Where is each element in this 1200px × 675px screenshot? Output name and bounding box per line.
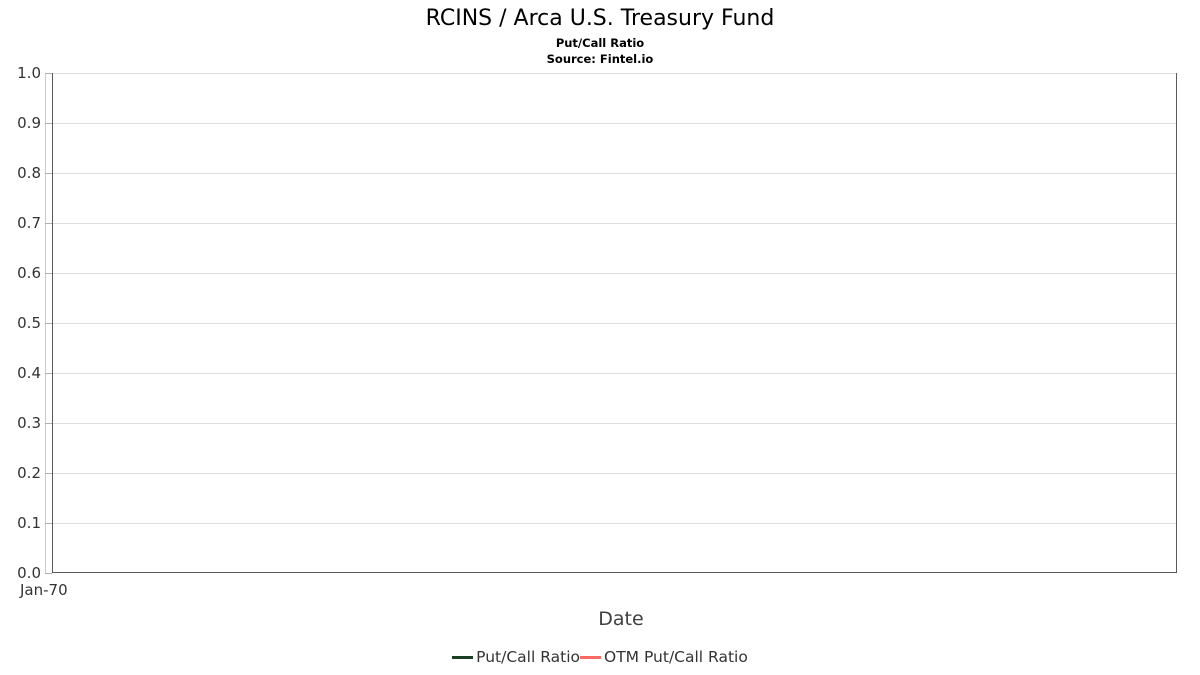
chart-subtitle: Put/Call Ratio <box>0 36 1200 50</box>
y-axis-tick-label: 0.9 <box>17 113 41 133</box>
legend-label: OTM Put/Call Ratio <box>604 648 748 666</box>
y-axis-tick-label: 0.2 <box>17 463 41 483</box>
y-axis-tick-mark <box>45 273 52 274</box>
y-axis-tick-mark <box>45 473 52 474</box>
y-axis-tick-label: 0.5 <box>17 313 41 333</box>
y-axis-tick-mark <box>45 323 52 324</box>
y-axis-tick-label: 0.6 <box>17 263 41 283</box>
y-axis-tick-mark <box>45 123 52 124</box>
chart-source-label: Source: Fintel.io <box>0 52 1200 66</box>
y-axis-tick-label: 0.8 <box>17 163 41 183</box>
y-axis-tick-mark <box>45 423 52 424</box>
legend-line-icon <box>580 656 601 659</box>
series-svg <box>53 74 1175 571</box>
chart-title: RCINS / Arca U.S. Treasury Fund <box>0 6 1200 31</box>
y-axis-tick-mark <box>45 223 52 224</box>
y-axis-tick-label: 1.0 <box>17 63 41 83</box>
x-axis-title: Date <box>0 608 1200 630</box>
y-axis-tick-mark <box>45 373 52 374</box>
chart-legend: Put/Call RatioOTM Put/Call Ratio <box>0 648 1200 666</box>
y-axis-tick-mark <box>45 173 52 174</box>
legend-label: Put/Call Ratio <box>476 648 580 666</box>
y-axis-tick-label: 0.1 <box>17 513 41 533</box>
y-axis-tick-mark <box>45 523 52 524</box>
data-series-layer <box>53 74 1176 572</box>
y-axis-tick-label: 0.7 <box>17 213 41 233</box>
x-axis-tick-label: Jan-70 <box>20 581 68 599</box>
legend-item[interactable]: OTM Put/Call Ratio <box>580 648 748 666</box>
y-axis-tick-label: 0.4 <box>17 363 41 383</box>
x-axis: Jan-70 <box>0 573 1200 613</box>
plot-area <box>52 73 1177 573</box>
y-axis-tick-label: 0.3 <box>17 413 41 433</box>
y-axis-tick-mark <box>45 73 52 74</box>
legend-item[interactable]: Put/Call Ratio <box>452 648 580 666</box>
legend-line-icon <box>452 656 473 659</box>
